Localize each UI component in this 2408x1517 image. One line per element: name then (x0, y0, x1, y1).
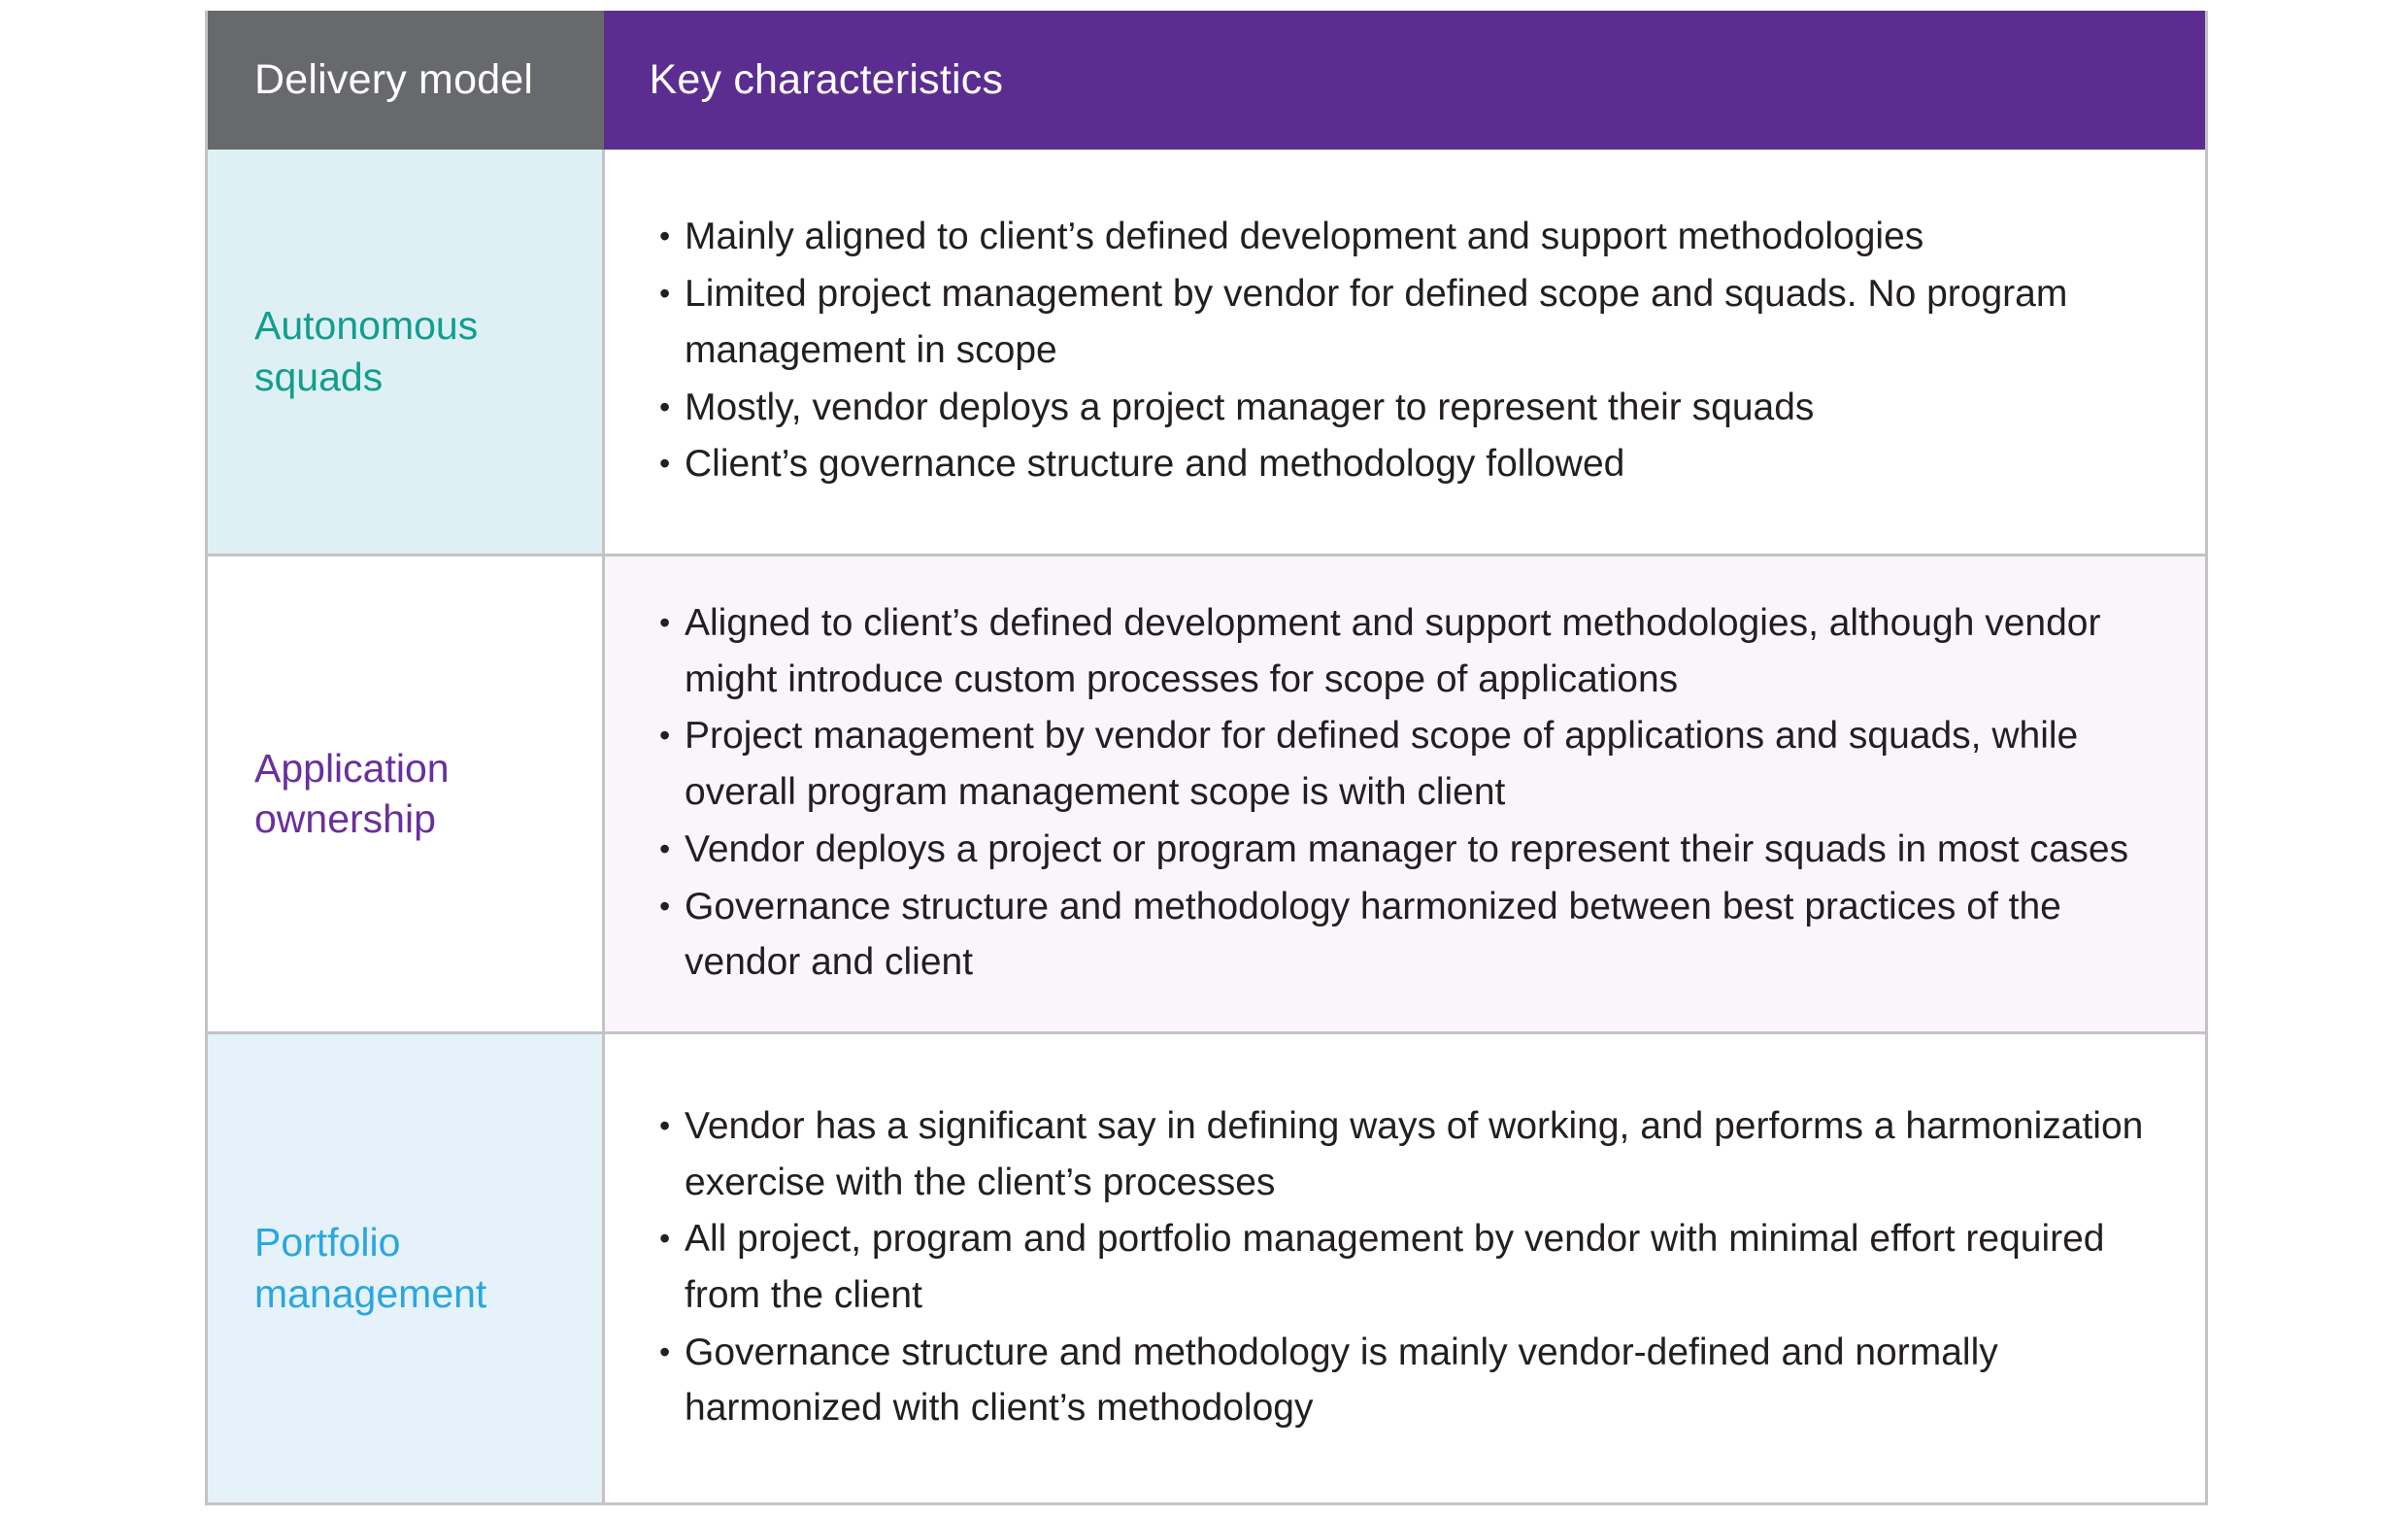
list-item: Project management by vendor for defined… (659, 708, 2168, 820)
list-item: Vendor has a significant say in defining… (659, 1098, 2168, 1210)
key-characteristics-cell-application: Aligned to client’s defined development … (604, 555, 2207, 1032)
list-item: Governance structure and methodology is … (659, 1325, 2168, 1436)
characteristics-list-autonomous: Mainly aligned to client’s defined devel… (605, 209, 2168, 492)
table-row: Autonomous squads Mainly aligned to clie… (207, 150, 2207, 555)
list-item: Aligned to client’s defined development … (659, 595, 2168, 707)
characteristics-list-application: Aligned to client’s defined development … (605, 595, 2168, 991)
list-item: Mostly, vendor deploys a project manager… (659, 380, 2168, 436)
table-row: Application ownership Aligned to client’… (207, 555, 2207, 1032)
list-item: Mainly aligned to client’s defined devel… (659, 209, 2168, 265)
list-item: Governance structure and methodology har… (659, 879, 2168, 991)
table-body: Autonomous squads Mainly aligned to clie… (207, 150, 2207, 1503)
list-item: Client’s governance structure and method… (659, 436, 2168, 492)
column-header-key-characteristics-label: Key characteristics (604, 57, 2206, 103)
delivery-model-cell-autonomous: Autonomous squads (207, 150, 604, 555)
key-characteristics-cell-autonomous: Mainly aligned to client’s defined devel… (604, 150, 2207, 555)
column-header-delivery-model-label: Delivery model (208, 57, 604, 103)
delivery-model-table: Delivery model Key characteristics Auton… (205, 11, 2208, 1505)
page-root: Delivery model Key characteristics Auton… (0, 0, 2408, 1517)
delivery-model-table-wrapper: Delivery model Key characteristics Auton… (205, 11, 2205, 1506)
delivery-model-label-portfolio: Portfolio management (254, 1217, 602, 1319)
delivery-model-cell-portfolio: Portfolio management (207, 1032, 604, 1503)
delivery-model-cell-application: Application ownership (207, 555, 604, 1032)
table-row: Portfolio management Vendor has a signif… (207, 1032, 2207, 1503)
table-header: Delivery model Key characteristics (207, 11, 2207, 150)
list-item: Vendor deploys a project or program mana… (659, 822, 2168, 878)
table-header-row: Delivery model Key characteristics (207, 11, 2207, 150)
column-header-delivery-model: Delivery model (207, 11, 604, 150)
characteristics-list-portfolio: Vendor has a significant say in defining… (605, 1098, 2168, 1436)
column-header-key-characteristics: Key characteristics (604, 11, 2207, 150)
delivery-model-label-application: Application ownership (254, 743, 602, 845)
list-item: All project, program and portfolio manag… (659, 1211, 2168, 1323)
key-characteristics-cell-portfolio: Vendor has a significant say in defining… (604, 1032, 2207, 1503)
list-item: Limited project management by vendor for… (659, 266, 2168, 378)
delivery-model-label-autonomous: Autonomous squads (254, 300, 602, 402)
